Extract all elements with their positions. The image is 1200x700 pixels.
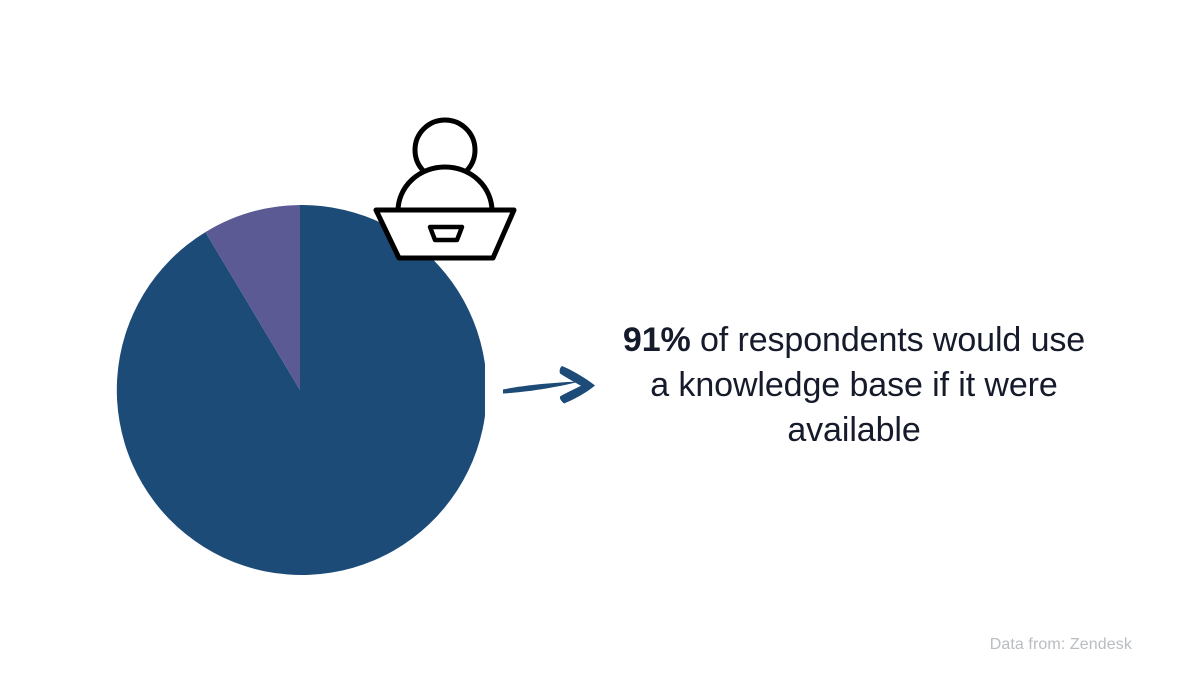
arrow-shaft <box>503 382 580 394</box>
infographic-canvas: 91% of respondents would use a knowledge… <box>0 0 1200 700</box>
person-at-podium-icon-svg <box>368 110 520 266</box>
source-attribution: Data from: Zendesk <box>990 636 1132 654</box>
callout-statement: 91% of respondents would use a knowledge… <box>614 318 1094 453</box>
person-at-podium-icon <box>368 110 520 266</box>
stat-description: of respondents would use a knowledge bas… <box>650 321 1085 449</box>
arrow-right-icon-svg <box>500 360 600 410</box>
stat-value: 91% <box>623 321 691 359</box>
podium-body-icon <box>398 167 492 211</box>
podium-emblem-icon <box>430 227 462 240</box>
arrow-right-icon <box>500 360 600 410</box>
